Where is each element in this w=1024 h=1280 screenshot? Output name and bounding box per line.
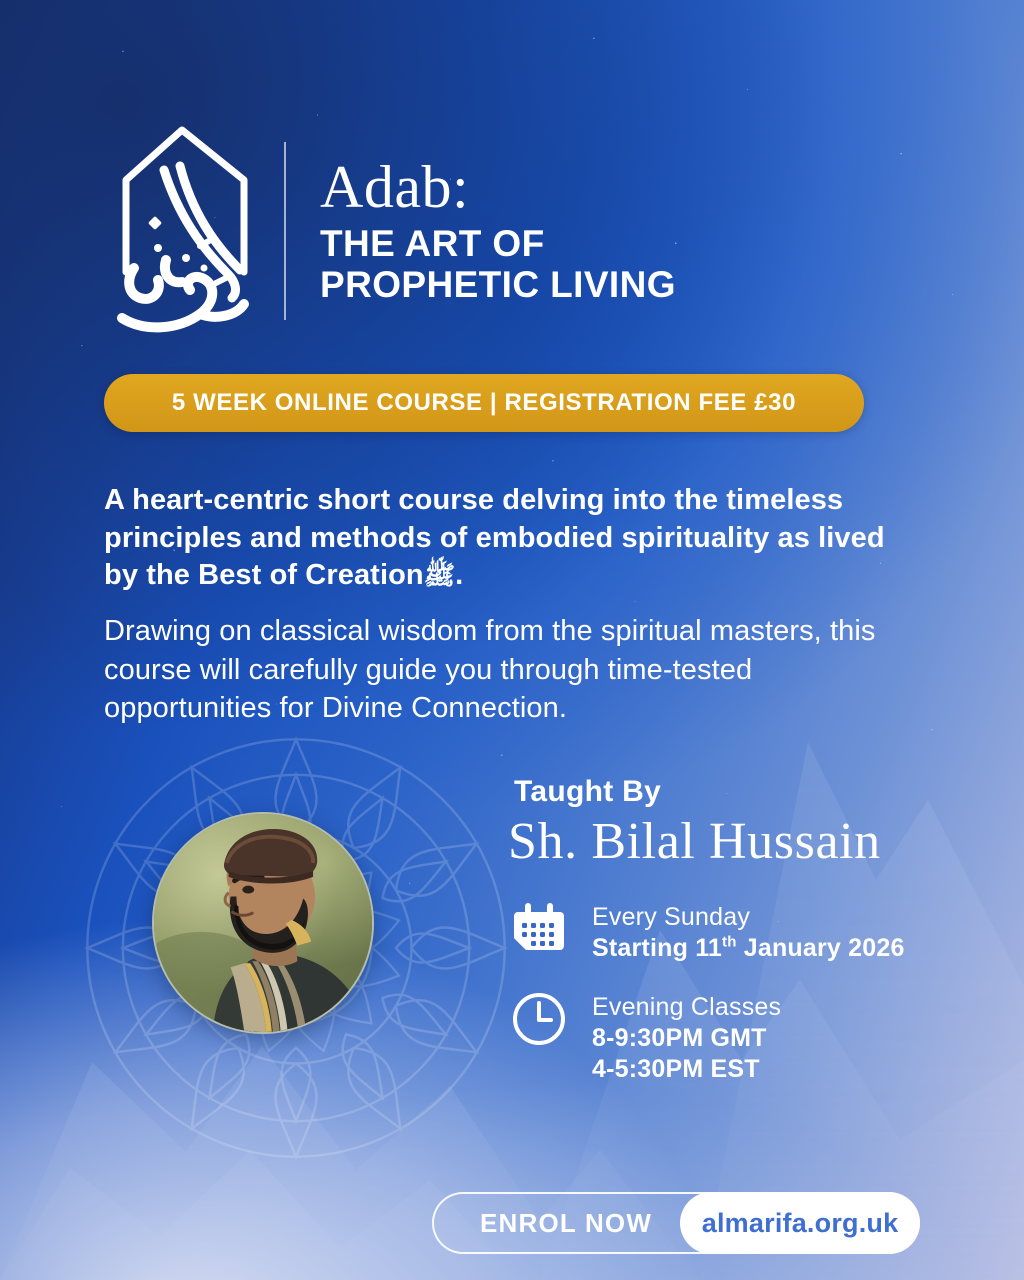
enrol-now-button[interactable]: ENROL NOW almarifa.org.uk <box>432 1192 920 1254</box>
description-lead-period: . <box>455 559 463 591</box>
schedule-time-est: 4-5:30PM EST <box>592 1054 781 1085</box>
course-info-banner: 5 WEEK ONLINE COURSE | REGISTRATION FEE … <box>104 374 864 432</box>
clock-icon <box>510 990 568 1048</box>
instructor-avatar <box>152 812 374 1034</box>
schedule-date-row: Every Sunday Starting 11th January 2026 <box>510 900 905 964</box>
instructor-name: Sh. Bilal Hussain <box>508 812 881 871</box>
schedule-time-label: Evening Classes <box>592 992 781 1023</box>
course-title-script: Adab: <box>320 157 676 217</box>
course-info-banner-text: 5 WEEK ONLINE COURSE | REGISTRATION FEE … <box>172 389 796 417</box>
course-title-main: THE ART OF PROPHETIC LIVING <box>320 223 676 306</box>
schedule-date-text: Every Sunday Starting 11th January 2026 <box>592 900 905 964</box>
schedule-time-gmt: 8-9:30PM GMT <box>592 1023 781 1054</box>
enrol-now-label: ENROL NOW <box>434 1208 680 1239</box>
description-body: Drawing on classical wisdom from the spi… <box>104 612 920 728</box>
course-poster: Adab: THE ART OF PROPHETIC LIVING 5 WEEK… <box>0 0 1024 1280</box>
poster-header: Adab: THE ART OF PROPHETIC LIVING <box>104 122 676 340</box>
course-title-line2: PROPHETIC LIVING <box>320 264 676 305</box>
description-lead-text: A heart-centric short course delving int… <box>104 484 885 591</box>
calendar-icon <box>510 900 568 958</box>
course-title-line1: THE ART OF <box>320 223 676 264</box>
schedule-start-ordinal: th <box>722 933 737 950</box>
arabic-calligraphy-logo-icon <box>104 122 264 340</box>
taught-by-label: Taught By <box>514 775 661 809</box>
schedule-frequency: Every Sunday <box>592 902 905 933</box>
poster-titles: Adab: THE ART OF PROPHETIC LIVING <box>320 157 676 306</box>
schedule-start-prefix: Starting 11 <box>592 934 722 962</box>
schedule-start-suffix: January 2026 <box>737 934 905 962</box>
schedule-time-text: Evening Classes 8-9:30PM GMT 4-5:30PM ES… <box>592 990 781 1085</box>
website-url-pill[interactable]: almarifa.org.uk <box>680 1192 920 1254</box>
schedule-time-row: Evening Classes 8-9:30PM GMT 4-5:30PM ES… <box>510 990 781 1085</box>
header-divider <box>284 142 286 320</box>
salawat-glyph: ﷺ <box>424 560 455 590</box>
schedule-start-date: Starting 11th January 2026 <box>592 933 905 964</box>
description-lead: A heart-centric short course delving int… <box>104 482 920 595</box>
